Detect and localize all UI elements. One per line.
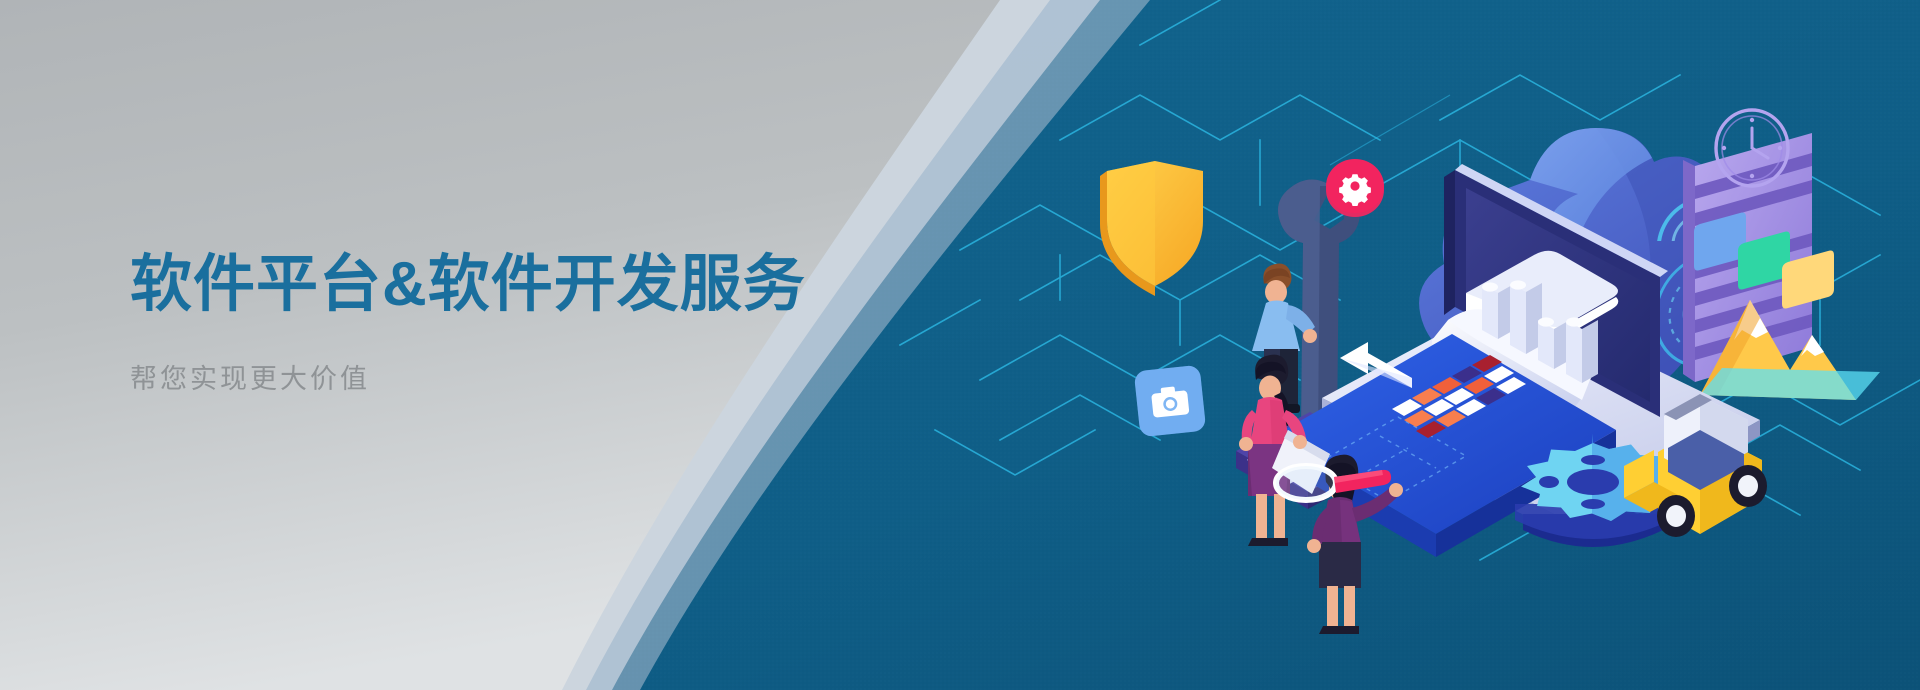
page-title: 软件平台&软件开发服务 [130,250,806,319]
page-subtitle: 帮您实现更大价值 [130,357,806,396]
hero-banner: 软件平台&软件开发服务 帮您实现更大价值 [0,0,1920,690]
hero-copy: 软件平台&软件开发服务 帮您实现更大价值 [130,250,806,396]
